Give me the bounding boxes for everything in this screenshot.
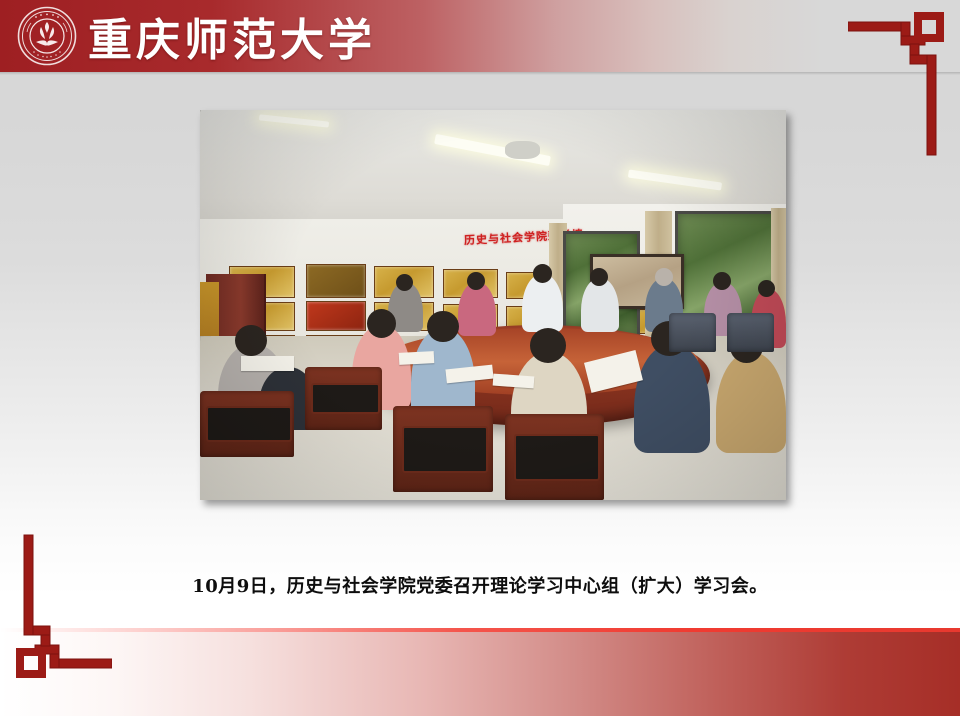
award-plaque bbox=[306, 264, 366, 299]
header-shadow bbox=[0, 72, 960, 75]
bottom-left-corner-ornament bbox=[12, 527, 112, 682]
meeting-photo: 历史与社会学院荣誉墙 bbox=[200, 110, 786, 500]
document-paper bbox=[399, 351, 435, 365]
chair-seat bbox=[206, 406, 292, 441]
meeting-photo-image: 历史与社会学院荣誉墙 bbox=[200, 110, 786, 500]
bottom-edge-strip bbox=[0, 716, 960, 720]
attendee-head bbox=[533, 264, 552, 283]
document-paper bbox=[241, 356, 294, 372]
empty-chair bbox=[727, 313, 774, 352]
attendee-head bbox=[427, 311, 459, 342]
top-right-corner-ornament bbox=[848, 8, 948, 163]
chair-seat bbox=[311, 383, 379, 414]
empty-chair bbox=[669, 313, 716, 352]
ceiling-projector bbox=[505, 141, 540, 159]
attendee-head bbox=[467, 272, 485, 290]
university-wordmark: 重庆师范大学 bbox=[88, 4, 376, 68]
award-plaque bbox=[306, 301, 366, 331]
attendee-head bbox=[655, 268, 673, 286]
chair-seat bbox=[514, 434, 600, 481]
university-seal-logo bbox=[17, 6, 77, 66]
attendee-head bbox=[235, 325, 267, 356]
photo-caption: 10月9日，历史与社会学院党委召开理论学习中心组（扩大）学习会。 bbox=[0, 572, 960, 598]
presentation-slide: 重庆师范大学 bbox=[0, 0, 960, 720]
bottom-gradient-band bbox=[0, 632, 960, 716]
chair-seat bbox=[402, 426, 488, 473]
